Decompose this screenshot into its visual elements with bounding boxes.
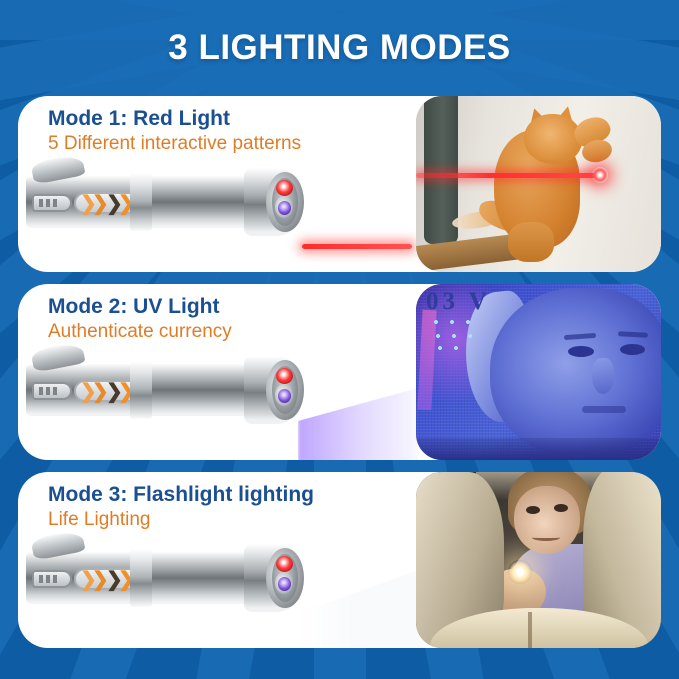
red-laser-emitter xyxy=(276,180,293,196)
red-laser-beam xyxy=(302,244,412,249)
battery-indicator-icon xyxy=(32,382,72,400)
book-spine xyxy=(528,612,532,648)
laser-beam-in-photo xyxy=(416,173,602,178)
red-laser-emitter xyxy=(276,368,293,384)
laser-dot xyxy=(592,167,608,183)
franklin-eye xyxy=(620,344,645,355)
flashlight-illustration-2: ❯ ❯ ❯ ❯ ❯ xyxy=(18,342,340,438)
page-title: 3 LIGHTING MODES xyxy=(0,28,679,68)
mode-2-heading: Mode 2: UV Light xyxy=(48,295,220,319)
mode-3-photo xyxy=(416,472,661,648)
flashlight-ring xyxy=(130,173,152,231)
franklin-eye xyxy=(568,346,594,357)
mode-3-heading: Mode 3: Flashlight lighting xyxy=(48,483,314,507)
girl-eye xyxy=(554,504,568,512)
franklin-nose xyxy=(592,358,614,394)
girl-face xyxy=(514,486,580,554)
uv-emitter xyxy=(278,201,291,215)
mode-card-3[interactable]: Mode 3: Flashlight lighting Life Lightin… xyxy=(18,472,661,648)
banknote-serial-text: 03 V xyxy=(426,288,491,316)
flashlight-ring xyxy=(130,361,152,419)
mode-card-2[interactable]: Mode 2: UV Light Authenticate currency ❯… xyxy=(18,284,661,460)
mode-1-photo xyxy=(416,96,661,272)
flashlight-illustration-1: ❯ ❯ ❯ ❯ ❯ xyxy=(18,154,340,250)
red-laser-emitter xyxy=(276,556,293,572)
handheld-flashlight-glow xyxy=(508,560,532,584)
white-light-beam xyxy=(300,568,424,648)
franklin-mouth xyxy=(582,406,626,413)
mode-2-subheading: Authenticate currency xyxy=(48,321,232,343)
flashlight-ring xyxy=(130,549,152,607)
cat-head xyxy=(524,114,582,164)
battery-indicator-icon xyxy=(32,194,72,212)
uv-emitter xyxy=(278,577,291,591)
mode-3-subheading: Life Lighting xyxy=(48,509,150,531)
franklin-face xyxy=(490,288,661,456)
battery-indicator-icon xyxy=(32,570,72,588)
cat-leg xyxy=(508,222,554,262)
girl-eye xyxy=(526,506,540,514)
uv-microprint-dots xyxy=(430,318,490,354)
mode-1-subheading: 5 Different interactive patterns xyxy=(48,133,301,155)
mode-card-1[interactable]: Mode 1: Red Light 5 Different interactiv… xyxy=(18,96,661,272)
flashlight-illustration-3: ❯ ❯ ❯ ❯ ❯ xyxy=(18,530,340,626)
uv-violet-beam xyxy=(298,388,418,460)
uv-emitter xyxy=(278,389,291,403)
mode-2-photo: 03 V xyxy=(416,284,661,460)
mode-1-heading: Mode 1: Red Light xyxy=(48,107,230,131)
girl-smile xyxy=(532,534,560,541)
banknote-edge xyxy=(416,438,661,460)
